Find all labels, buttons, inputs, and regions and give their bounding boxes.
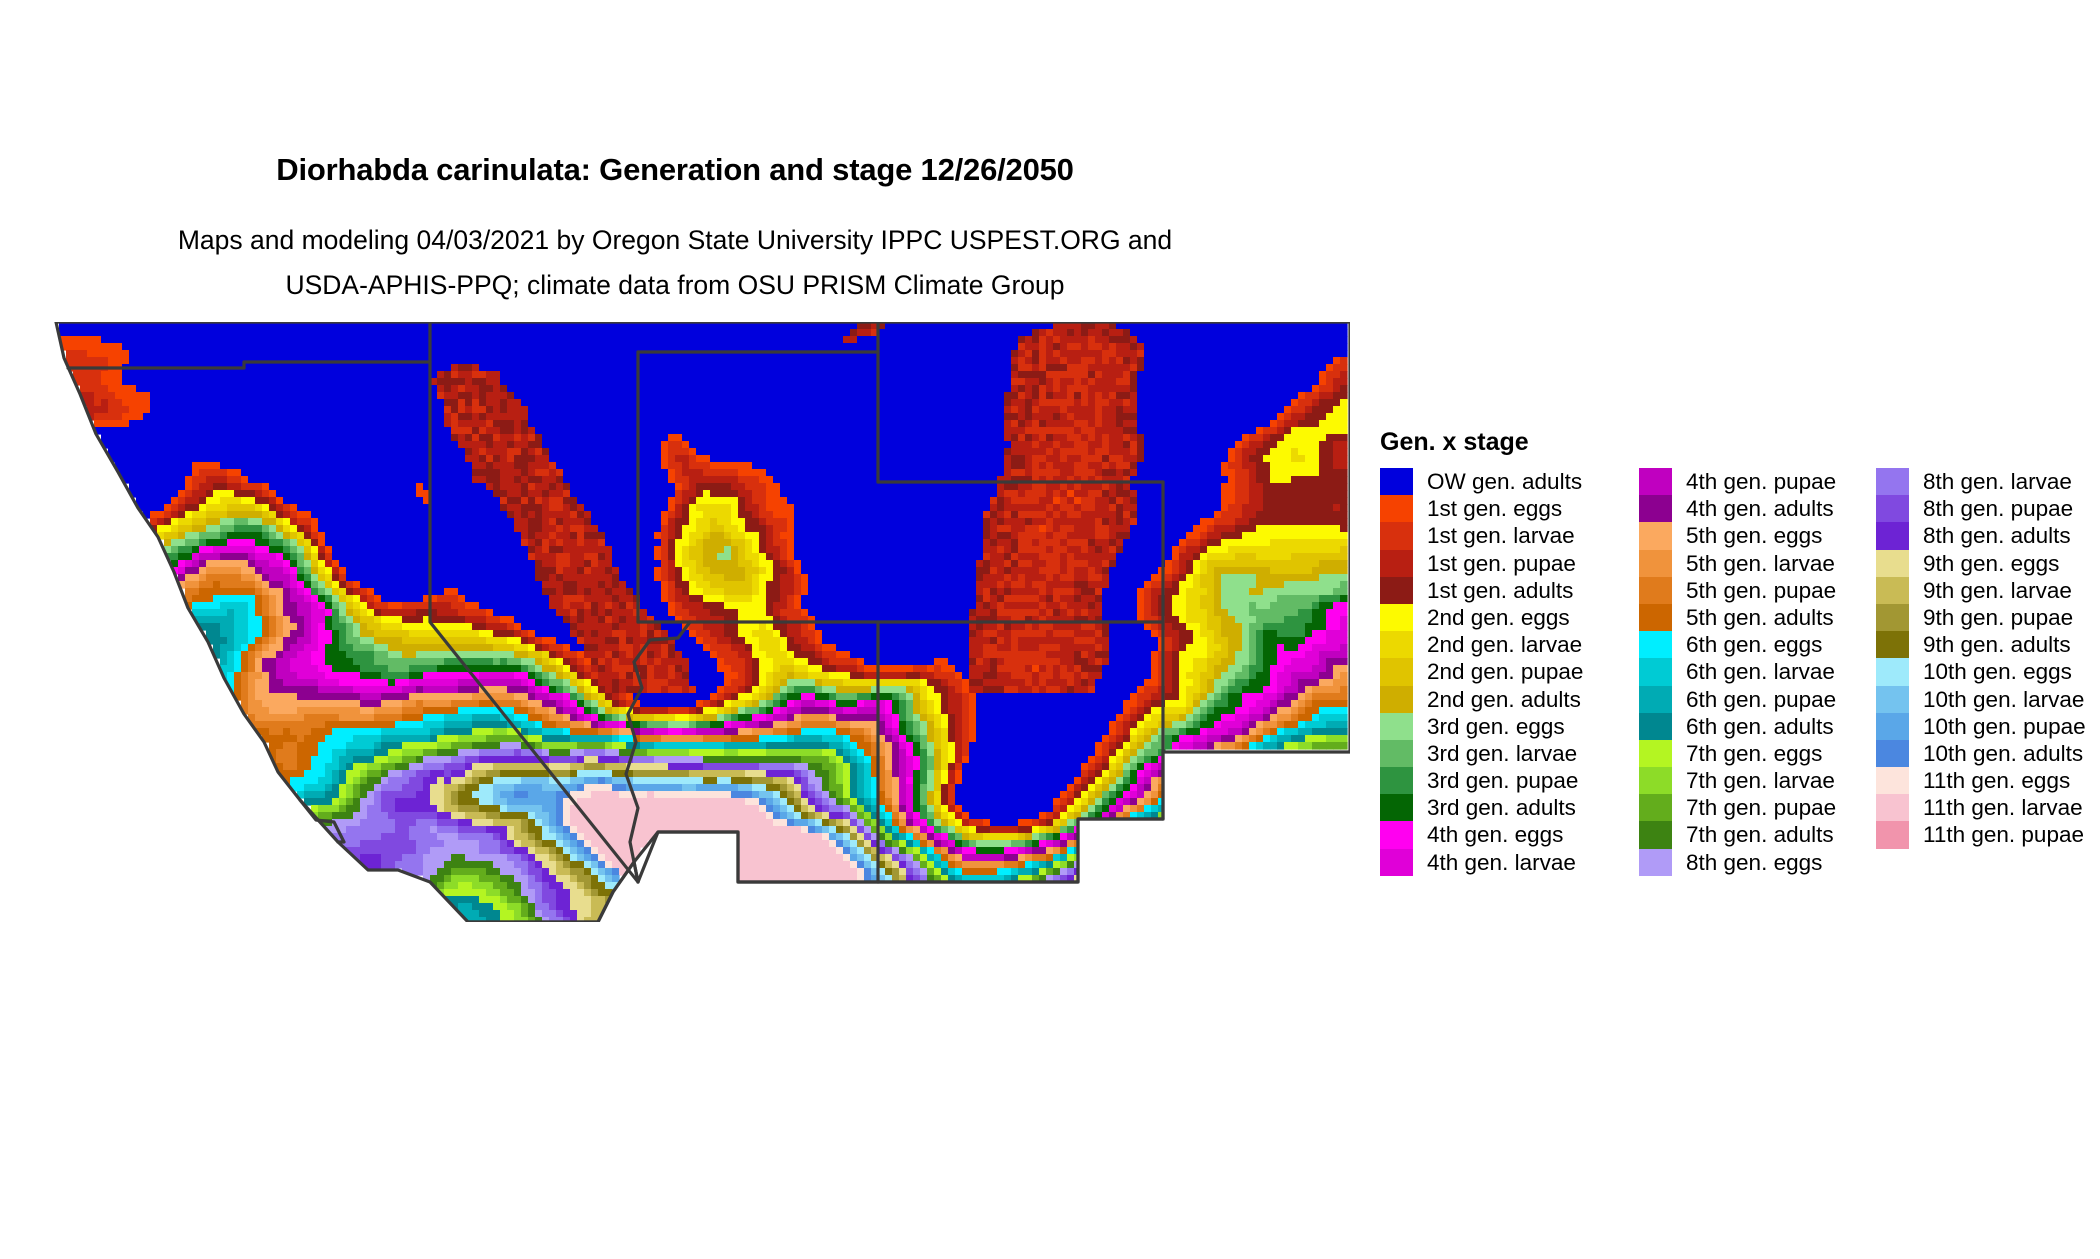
legend-item: 6th gen. eggs: [1639, 631, 1836, 658]
legend-item: 4th gen. adults: [1639, 495, 1836, 522]
legend-label: 3rd gen. adults: [1427, 794, 1576, 821]
legend-swatch: [1380, 821, 1413, 848]
legend-item: 11th gen. larvae: [1876, 794, 2086, 821]
legend-label: 10th gen. eggs: [1923, 658, 2072, 685]
legend-item: 7th gen. eggs: [1639, 740, 1836, 767]
legend-item: 5th gen. pupae: [1639, 577, 1836, 604]
legend-swatch: [1639, 577, 1672, 604]
legend-label: 4th gen. eggs: [1427, 821, 1563, 848]
legend-label: 10th gen. larvae: [1923, 686, 2084, 713]
legend-swatch: [1639, 849, 1672, 876]
legend-label: 9th gen. adults: [1923, 631, 2071, 658]
legend-label: 5th gen. pupae: [1686, 577, 1836, 604]
legend-label: 5th gen. larvae: [1686, 550, 1835, 577]
legend-label: 9th gen. eggs: [1923, 550, 2059, 577]
legend-item: 9th gen. larvae: [1876, 577, 2086, 604]
legend-swatch: [1876, 468, 1909, 495]
legend-item: 7th gen. pupae: [1639, 794, 1836, 821]
legend-title: Gen. x stage: [1380, 428, 1529, 457]
legend-swatch: [1639, 794, 1672, 821]
legend-swatch: [1876, 604, 1909, 631]
legend-item: 6th gen. pupae: [1639, 686, 1836, 713]
legend-swatch: [1876, 767, 1909, 794]
legend: Gen. x stage OW gen. adults1st gen. eggs…: [1380, 428, 2090, 988]
legend-label: 8th gen. adults: [1923, 522, 2071, 549]
legend-item: 2nd gen. eggs: [1380, 604, 1583, 631]
legend-label: 7th gen. adults: [1686, 821, 1834, 848]
subtitle-line-1: Maps and modeling 04/03/2021 by Oregon S…: [0, 218, 1350, 263]
legend-item: 10th gen. eggs: [1876, 658, 2086, 685]
legend-swatch: [1380, 631, 1413, 658]
legend-item: 3rd gen. pupae: [1380, 767, 1583, 794]
legend-label: 2nd gen. adults: [1427, 686, 1581, 713]
legend-item: 7th gen. larvae: [1639, 767, 1836, 794]
legend-label: 8th gen. larvae: [1923, 468, 2072, 495]
legend-item: 11th gen. pupae: [1876, 821, 2086, 848]
legend-item: 5th gen. adults: [1639, 604, 1836, 631]
legend-label: 2nd gen. eggs: [1427, 604, 1570, 631]
legend-label: 2nd gen. larvae: [1427, 631, 1582, 658]
legend-swatch: [1380, 550, 1413, 577]
legend-item: 4th gen. eggs: [1380, 821, 1583, 848]
legend-item: 3rd gen. adults: [1380, 794, 1583, 821]
page-subtitle: Maps and modeling 04/03/2021 by Oregon S…: [0, 218, 1350, 308]
legend-label: 3rd gen. pupae: [1427, 767, 1578, 794]
legend-swatch: [1639, 713, 1672, 740]
legend-label: 11th gen. eggs: [1923, 767, 2070, 794]
legend-label: 6th gen. pupae: [1686, 686, 1836, 713]
legend-item: 3rd gen. eggs: [1380, 713, 1583, 740]
legend-swatch: [1380, 495, 1413, 522]
legend-swatch: [1639, 468, 1672, 495]
legend-swatch: [1639, 495, 1672, 522]
legend-column-3: 8th gen. larvae8th gen. pupae8th gen. ad…: [1876, 468, 2086, 849]
map-panel[interactable]: [38, 322, 1350, 922]
legend-swatch: [1380, 713, 1413, 740]
legend-label: 4th gen. pupae: [1686, 468, 1836, 495]
legend-label: 7th gen. larvae: [1686, 767, 1835, 794]
legend-label: 7th gen. pupae: [1686, 794, 1836, 821]
legend-label: 10th gen. pupae: [1923, 713, 2086, 740]
legend-swatch: [1380, 767, 1413, 794]
legend-swatch: [1876, 821, 1909, 848]
legend-item: 4th gen. pupae: [1639, 468, 1836, 495]
legend-label: 8th gen. eggs: [1686, 849, 1822, 876]
legend-label: 4th gen. larvae: [1427, 849, 1576, 876]
legend-label: 1st gen. eggs: [1427, 495, 1562, 522]
legend-item: 7th gen. adults: [1639, 821, 1836, 848]
legend-label: 6th gen. larvae: [1686, 658, 1835, 685]
legend-label: 2nd gen. pupae: [1427, 658, 1583, 685]
legend-item: 2nd gen. larvae: [1380, 631, 1583, 658]
legend-label: 5th gen. eggs: [1686, 522, 1822, 549]
legend-label: 8th gen. pupae: [1923, 495, 2073, 522]
legend-swatch: [1876, 495, 1909, 522]
legend-label: 6th gen. adults: [1686, 713, 1834, 740]
legend-swatch: [1876, 658, 1909, 685]
legend-swatch: [1380, 794, 1413, 821]
legend-item: 1st gen. larvae: [1380, 522, 1583, 549]
legend-swatch: [1876, 577, 1909, 604]
legend-swatch: [1639, 522, 1672, 549]
legend-swatch: [1380, 849, 1413, 876]
legend-label: 1st gen. larvae: [1427, 522, 1575, 549]
legend-swatch: [1876, 631, 1909, 658]
legend-item: 10th gen. pupae: [1876, 713, 2086, 740]
legend-label: 7th gen. eggs: [1686, 740, 1822, 767]
legend-column-2: 4th gen. pupae4th gen. adults5th gen. eg…: [1639, 468, 1836, 876]
legend-item: 8th gen. eggs: [1639, 849, 1836, 876]
legend-swatch: [1639, 550, 1672, 577]
subtitle-line-2: USDA-APHIS-PPQ; climate data from OSU PR…: [0, 263, 1350, 308]
legend-swatch: [1876, 794, 1909, 821]
legend-swatch: [1876, 550, 1909, 577]
legend-label: 9th gen. pupae: [1923, 604, 2073, 631]
legend-label: 11th gen. pupae: [1923, 821, 2084, 848]
legend-label: 3rd gen. eggs: [1427, 713, 1565, 740]
legend-item: 8th gen. adults: [1876, 522, 2086, 549]
legend-swatch: [1380, 577, 1413, 604]
legend-label: 3rd gen. larvae: [1427, 740, 1577, 767]
legend-swatch: [1876, 740, 1909, 767]
legend-swatch: [1876, 686, 1909, 713]
legend-swatch: [1380, 686, 1413, 713]
legend-swatch: [1380, 468, 1413, 495]
legend-item: 1st gen. adults: [1380, 577, 1583, 604]
legend-item: 11th gen. eggs: [1876, 767, 2086, 794]
legend-column-1: OW gen. adults1st gen. eggs1st gen. larv…: [1380, 468, 1583, 876]
legend-item: 1st gen. pupae: [1380, 550, 1583, 577]
legend-item: 3rd gen. larvae: [1380, 740, 1583, 767]
legend-item: 5th gen. larvae: [1639, 550, 1836, 577]
legend-swatch: [1380, 604, 1413, 631]
legend-swatch: [1639, 767, 1672, 794]
legend-item: 9th gen. eggs: [1876, 550, 2086, 577]
legend-item: 5th gen. eggs: [1639, 522, 1836, 549]
legend-item: 1st gen. eggs: [1380, 495, 1583, 522]
legend-swatch: [1639, 686, 1672, 713]
legend-label: 10th gen. adults: [1923, 740, 2083, 767]
legend-item: 9th gen. pupae: [1876, 604, 2086, 631]
legend-item: 2nd gen. adults: [1380, 686, 1583, 713]
legend-label: 11th gen. larvae: [1923, 794, 2083, 821]
legend-swatch: [1639, 821, 1672, 848]
legend-swatch: [1876, 713, 1909, 740]
legend-item: 2nd gen. pupae: [1380, 658, 1583, 685]
legend-item: OW gen. adults: [1380, 468, 1583, 495]
legend-swatch: [1380, 740, 1413, 767]
phenology-raster-map[interactable]: [38, 322, 1350, 922]
legend-label: 6th gen. eggs: [1686, 631, 1822, 658]
legend-item: 6th gen. larvae: [1639, 658, 1836, 685]
legend-item: 8th gen. larvae: [1876, 468, 2086, 495]
legend-swatch: [1380, 522, 1413, 549]
legend-label: 1st gen. adults: [1427, 577, 1573, 604]
legend-item: 10th gen. adults: [1876, 740, 2086, 767]
legend-swatch: [1380, 658, 1413, 685]
legend-swatch: [1639, 740, 1672, 767]
legend-item: 4th gen. larvae: [1380, 849, 1583, 876]
legend-label: 9th gen. larvae: [1923, 577, 2072, 604]
legend-label: 1st gen. pupae: [1427, 550, 1576, 577]
legend-swatch: [1639, 604, 1672, 631]
legend-swatch: [1876, 522, 1909, 549]
legend-swatch: [1639, 631, 1672, 658]
legend-label: 4th gen. adults: [1686, 495, 1834, 522]
legend-item: 6th gen. adults: [1639, 713, 1836, 740]
page-title: Diorhabda carinulata: Generation and sta…: [0, 152, 1350, 188]
legend-item: 10th gen. larvae: [1876, 686, 2086, 713]
legend-item: 8th gen. pupae: [1876, 495, 2086, 522]
legend-item: 9th gen. adults: [1876, 631, 2086, 658]
legend-swatch: [1639, 658, 1672, 685]
legend-label: 5th gen. adults: [1686, 604, 1834, 631]
legend-label: OW gen. adults: [1427, 468, 1582, 495]
